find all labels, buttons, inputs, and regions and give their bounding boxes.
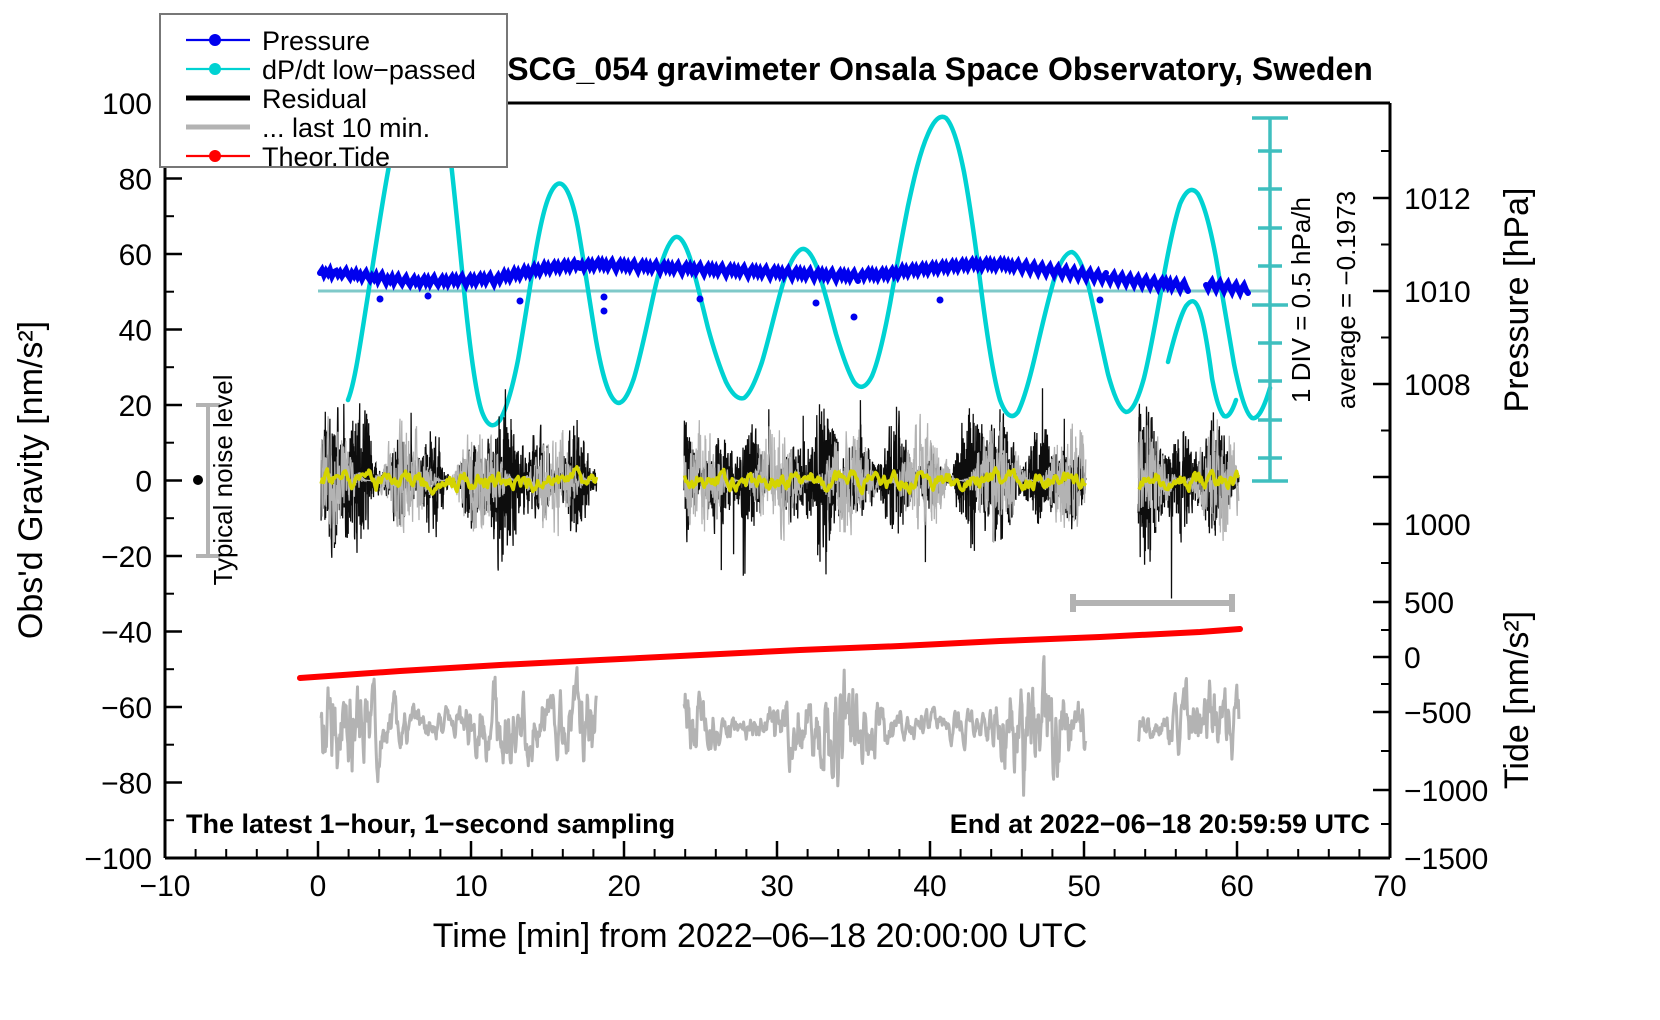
y-tick-label: 60 (119, 239, 152, 272)
chart-page: −10 0 10 20 30 40 50 60 70 Time [min] fr… (0, 0, 1660, 1020)
pressure-tick-label: 1010 (1404, 276, 1471, 309)
y-tick-label: −40 (101, 617, 152, 650)
tide-tick-label: −1000 (1404, 775, 1488, 808)
y-tick-label: 100 (102, 88, 152, 121)
x-tick-label: 70 (1373, 870, 1406, 903)
legend-label: ... last 10 min. (262, 113, 430, 143)
y-left-axis-label: Obs'd Gravity [nm/s²] (12, 321, 50, 639)
y-right-tide-axis-label: Tide [nm/s²] (1498, 611, 1536, 789)
y-right-pressure-tick-labels: 1012 1010 1008 (1404, 183, 1471, 402)
x-tick-label: 50 (1067, 870, 1100, 903)
x-tick-label: 20 (607, 870, 640, 903)
y-tick-label: 20 (119, 390, 152, 423)
y-tick-label: −100 (84, 843, 152, 876)
legend-marker-dpdt (209, 63, 221, 75)
y-tick-label: −80 (101, 768, 152, 801)
legend-marker-pressure (209, 34, 221, 46)
tide-tick-label: 0 (1404, 642, 1421, 675)
tide-tick-label: −500 (1404, 697, 1472, 730)
x-tick-label: 0 (310, 870, 327, 903)
y-tick-label: 80 (119, 164, 152, 197)
legend-label: dP/dt low−passed (262, 55, 476, 85)
legend-label: Residual (262, 84, 367, 114)
gravimeter-chart: −10 0 10 20 30 40 50 60 70 Time [min] fr… (0, 0, 1660, 1020)
y-tick-label: −60 (101, 692, 152, 725)
y-right-pressure-axis-label: Pressure [hPa] (1498, 188, 1536, 413)
x-tick-label: 40 (913, 870, 946, 903)
pressure-tick-label: 1008 (1404, 369, 1471, 402)
legend-label: Pressure (262, 26, 370, 56)
tide-tick-label: 1000 (1404, 509, 1471, 542)
x-tick-label: 30 (760, 870, 793, 903)
y-tick-label: −20 (101, 541, 152, 574)
tide-tick-label: 500 (1404, 587, 1454, 620)
page-title: SCG_054 gravimeter Onsala Space Observat… (507, 51, 1373, 87)
footer-left-text: The latest 1−hour, 1−second sampling (186, 809, 675, 839)
pressure-tick-label: 1012 (1404, 183, 1471, 216)
typical-noise-level-label: Typical noise level (208, 375, 238, 586)
legend-marker-theortide (209, 150, 221, 162)
x-axis-label: Time [min] from 2022–06–18 20:00:00 UTC (433, 917, 1088, 955)
y-tick-label: 40 (119, 315, 152, 348)
legend[interactable]: Pressure dP/dt low−passed Residual ... l… (160, 14, 507, 172)
dpdt-average-annotation: average = −0.1973 (1331, 191, 1361, 409)
x-tick-label: 10 (454, 870, 487, 903)
footer-right-text: End at 2022−06−18 20:59:59 UTC (950, 809, 1370, 839)
y-tick-label: 0 (135, 466, 152, 499)
tide-tick-label: −1500 (1404, 843, 1488, 876)
x-tick-label: 60 (1220, 870, 1253, 903)
dpdt-div-annotation: 1 DIV = 0.5 hPa/h (1286, 197, 1316, 403)
legend-label: Theor.Tide (262, 142, 390, 172)
